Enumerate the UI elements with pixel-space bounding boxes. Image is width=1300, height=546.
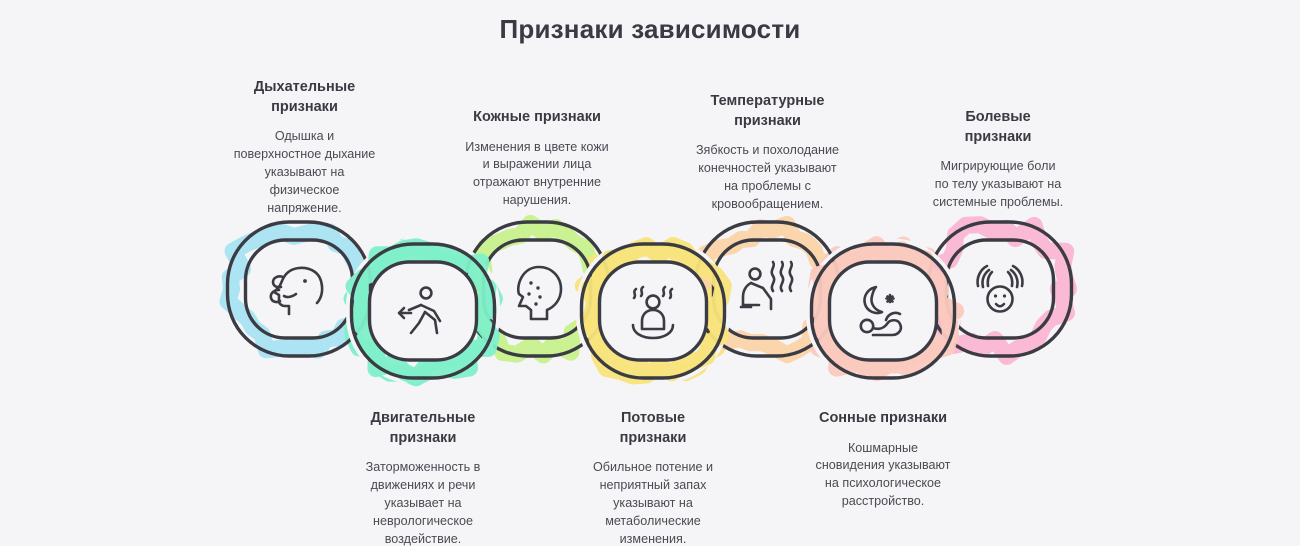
- label-block-breathing: ДыхательныепризнакиОдышка иповерхностное…: [213, 78, 396, 218]
- chain-link-temperature: [696, 222, 839, 356]
- label-body-breathing: Одышка иповерхностное дыханиеуказывают н…: [213, 128, 396, 217]
- chain-link-sweat: [580, 242, 727, 380]
- label-block-temperature: ТемпературныепризнакиЗябкость и похолода…: [670, 92, 865, 214]
- label-body-temperature: Зябкость и похолоданиеконечностей указыв…: [670, 142, 865, 214]
- chain-link-pain: [929, 222, 1072, 356]
- breathing-head-icon: [271, 268, 322, 314]
- label-block-pain: БолевыепризнакиМигрирующие болипо телу у…: [905, 108, 1091, 212]
- label-body-sleep: Кошмарныесновидения указываютна психолог…: [790, 440, 976, 512]
- chain-link-movement: [350, 242, 497, 380]
- label-heading-pain: Болевыепризнаки: [905, 108, 1091, 147]
- label-block-skin: Кожные признакиИзменения в цвете кожии в…: [443, 108, 631, 210]
- cold-person-heatwaves-icon: [741, 262, 792, 309]
- running-person-icon: [399, 288, 440, 333]
- spotted-face-icon: [518, 267, 561, 319]
- label-heading-sweat: Потовыепризнаки: [560, 409, 746, 448]
- label-body-pain: Мигрирующие болипо телу указывают насист…: [905, 158, 1091, 212]
- label-body-movement: Заторможенность вдвижениях и речиуказыва…: [330, 459, 516, 546]
- page-title: Признаки зависимости: [0, 14, 1300, 45]
- sweating-person-icon: [633, 287, 673, 338]
- label-block-sleep: Сонные признакиКошмарныесновидения указы…: [790, 409, 976, 511]
- label-block-movement: ДвигательныепризнакиЗаторможенность вдви…: [330, 409, 516, 546]
- label-body-sweat: Обильное потение инеприятный запахуказыв…: [560, 459, 746, 546]
- label-heading-movement: Двигательныепризнаки: [330, 409, 516, 448]
- label-heading-temperature: Температурныепризнаки: [670, 92, 865, 131]
- chain-link-sleep: [810, 242, 957, 380]
- label-heading-sleep: Сонные признаки: [790, 409, 976, 429]
- head-pain-icon: [978, 266, 1023, 312]
- chain-link-breathing: [228, 222, 371, 356]
- label-block-sweat: ПотовыепризнакиОбильное потение инеприят…: [560, 409, 746, 546]
- infographic-canvas: Признаки зависимости Дыхательныепризнаки…: [0, 0, 1300, 546]
- moon-sleeping-person-icon: [861, 287, 901, 335]
- label-body-skin: Изменения в цвете кожии выражении лицаот…: [443, 139, 631, 211]
- chain-link-skin: [466, 222, 609, 356]
- label-heading-breathing: Дыхательныепризнаки: [213, 78, 396, 117]
- label-heading-skin: Кожные признаки: [443, 108, 631, 128]
